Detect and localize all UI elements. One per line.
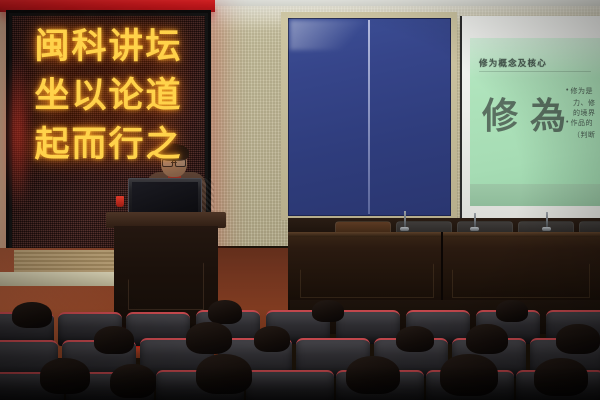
microphone-base-3 <box>542 227 551 231</box>
audience-head <box>208 300 242 324</box>
presentation-slide: 修为概念及核心 修 為 • 修为是 力、修 的境界 • 作品的 （判断 <box>470 38 600 206</box>
audience-head <box>12 302 52 328</box>
conference-table-lip <box>288 232 600 237</box>
slide-footer-band <box>470 184 600 206</box>
table-microphone-1 <box>404 211 406 227</box>
slide-title: 修为概念及核心 <box>479 57 547 69</box>
blue-panel-sheen <box>290 20 370 50</box>
laptop-screen <box>132 182 198 212</box>
podium-cup <box>116 196 124 207</box>
bullet-subline-1b: 的境界 <box>573 108 600 118</box>
led-edge-glow <box>5 53 31 213</box>
audience-head <box>396 326 434 352</box>
seal-character-1: 修 <box>482 98 518 134</box>
audience-head <box>466 324 508 354</box>
slide-bullet-1: • 修为是 <box>566 86 600 96</box>
slide-bullet-list: • 修为是 力、修 的境界 • 作品的 （判断 <box>566 86 600 140</box>
led-line-1: 闽科讲坛 <box>34 25 182 69</box>
audience-head <box>496 300 528 322</box>
audience-head <box>94 326 134 354</box>
audience-head <box>556 324 600 354</box>
bullet-subline-1a: 力、修 <box>573 98 600 108</box>
bullet-text-2: 作品的 <box>570 118 593 128</box>
audience-head <box>312 300 344 322</box>
seal-character-2: 為 <box>530 98 566 134</box>
slide-title-rule <box>479 71 591 72</box>
led-line-2: 坐以论道 <box>34 74 182 118</box>
bullet-marker-icon: • <box>566 86 568 96</box>
audience-head <box>254 326 290 352</box>
bullet-text-1: 修为是 <box>570 86 593 96</box>
audience-foreground-shadow <box>0 366 600 400</box>
microphone-base-2 <box>470 227 479 231</box>
bullet-subline-2a: （判断 <box>573 130 600 140</box>
table-microphone-2 <box>474 213 476 227</box>
slide-bullet-2: • 作品的 <box>566 118 600 128</box>
table-microphone-3 <box>546 212 548 227</box>
microphone-base-1 <box>400 227 409 231</box>
lecture-hall-photo: 闽科讲坛 坐以论道 起而行之 修为概念及核心 修 為 • 修为是 力、修 的境界… <box>0 0 600 400</box>
audience-head <box>186 322 232 354</box>
led-banner-text: 闽科讲坛 坐以论道 起而行之 <box>9 25 208 167</box>
audience-area <box>0 300 600 400</box>
bullet-marker-icon: • <box>566 118 568 128</box>
led-line-3: 起而行之 <box>34 123 182 167</box>
seal-script-characters: 修 為 <box>482 86 566 146</box>
podium-laptop <box>128 178 202 216</box>
